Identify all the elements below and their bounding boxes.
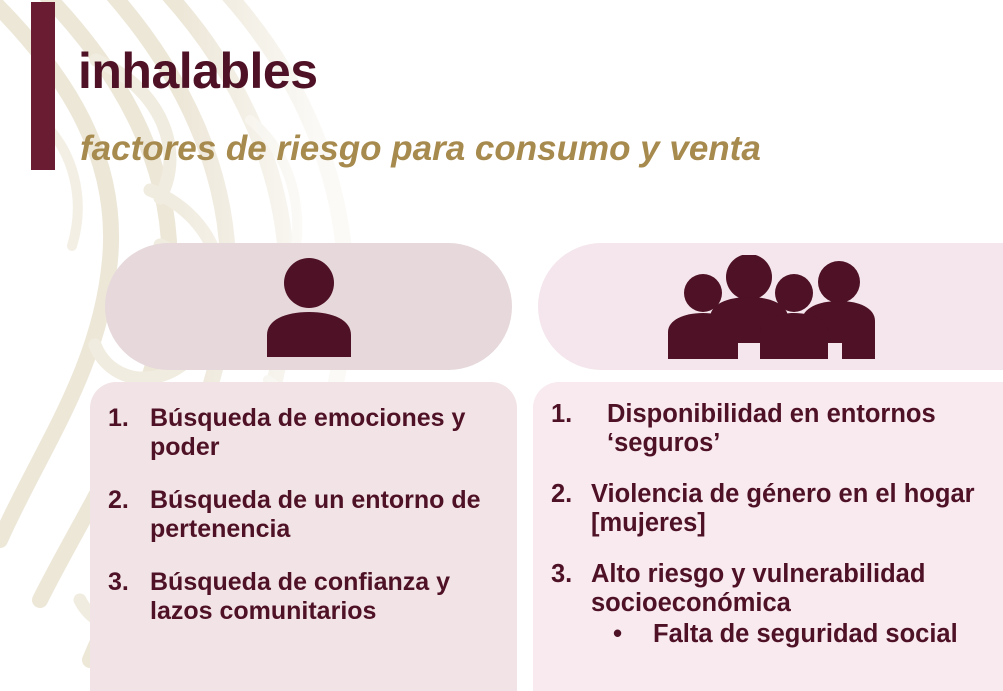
list-item: 2. Búsqueda de un entorno de pertenencia: [108, 486, 505, 544]
list-item: 3. Búsqueda de confianza y lazos comunit…: [108, 568, 505, 626]
sub-list-item-text: Falta de seguridad social: [653, 620, 999, 649]
sub-list-item: • Falta de seguridad social: [591, 620, 999, 649]
list-item: 2. Violencia de género en el hogar [muje…: [551, 480, 999, 538]
header-accent-bar: [31, 2, 55, 170]
bullet-dot-icon: •: [613, 620, 653, 647]
list-item-text: Disponibilidad en entornos ‘seguros’: [607, 400, 999, 458]
group-of-people-icon: [666, 255, 876, 359]
single-person-icon: [261, 257, 357, 357]
list-item: 3. Alto riesgo y vulnerabilidad socioeco…: [551, 560, 999, 649]
text-card-social: 1. Disponibilidad en entornos ‘seguros’ …: [533, 382, 1003, 691]
risk-factor-list-individual: 1. Búsqueda de emociones y poder 2. Búsq…: [108, 404, 505, 626]
icon-card-group: [538, 243, 1003, 370]
page-title: inhalables: [78, 46, 318, 96]
list-marker: 3.: [551, 560, 591, 589]
list-marker: 2.: [108, 486, 150, 515]
list-marker: 3.: [108, 568, 150, 597]
list-item-text-group: Alto riesgo y vulnerabilidad socioeconóm…: [591, 560, 999, 649]
list-marker: 2.: [551, 480, 591, 509]
text-card-individual: 1. Búsqueda de emociones y poder 2. Búsq…: [90, 382, 517, 691]
list-item-text: Búsqueda de emociones y poder: [150, 404, 505, 462]
slide-canvas: inhalables factores de riesgo para consu…: [0, 0, 1003, 691]
risk-factor-list-social: 1. Disponibilidad en entornos ‘seguros’ …: [551, 400, 999, 649]
list-item-text: Violencia de género en el hogar [mujeres…: [591, 480, 999, 538]
icon-card-individual: [105, 243, 512, 370]
list-item-text: Búsqueda de un entorno de pertenencia: [150, 486, 505, 544]
list-item: 1. Búsqueda de emociones y poder: [108, 404, 505, 462]
list-marker: 1.: [551, 400, 607, 429]
list-item: 1. Disponibilidad en entornos ‘seguros’: [551, 400, 999, 458]
list-item-text: Búsqueda de confianza y lazos comunitari…: [150, 568, 505, 626]
list-item-text: Alto riesgo y vulnerabilidad socioeconóm…: [591, 560, 925, 617]
sub-bullet-list: • Falta de seguridad social: [591, 620, 999, 649]
page-subtitle: factores de riesgo para consumo y venta: [80, 131, 761, 166]
list-marker: 1.: [108, 404, 150, 433]
